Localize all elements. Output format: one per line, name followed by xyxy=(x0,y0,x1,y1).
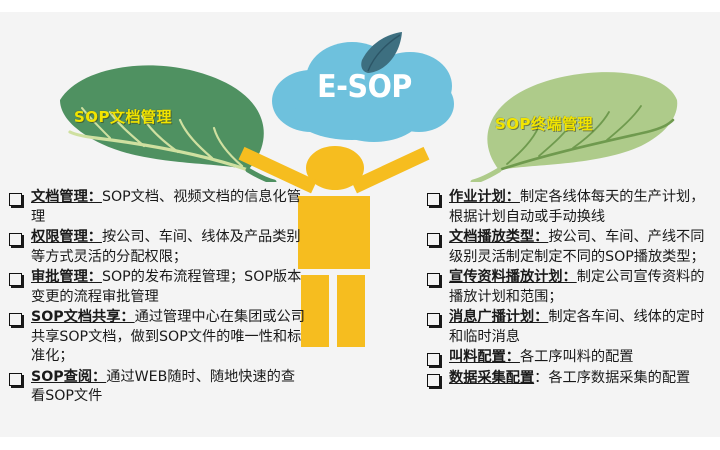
leaf-right: SOP终端管理 xyxy=(455,70,685,182)
list-item-text: 审批管理：SOP的发布流程管理；SOP版本变更的流程审批管理 xyxy=(31,268,306,307)
slide-canvas: SOP文档管理 E-SOP xyxy=(0,12,720,437)
list-item-term: SOP文档共享： xyxy=(31,309,135,325)
list-item-text: 权限管理：按公司、车间、线体及产品类别等方式灵活的分配权限； xyxy=(31,228,306,267)
figure-leg-right xyxy=(337,275,365,347)
list-item-text: 宣传资料播放计划：制定公司宣传资料的播放计划和范围； xyxy=(449,268,716,307)
list-item[interactable]: 消息广播计划：制定各车间、线体的定时和临时消息 xyxy=(424,308,716,347)
list-item-term: 宣传资料播放计划： xyxy=(449,269,577,285)
list-item-description: 各工序叫料的配置 xyxy=(520,349,634,365)
bullet-square-icon xyxy=(427,233,440,246)
list-item-text: 文档管理：SOP文档、视频文档的信息化管理 xyxy=(31,188,306,227)
list-item[interactable]: 作业计划：制定各线体每天的生产计划，根据计划自动或手动换线 xyxy=(424,188,716,227)
leaf-right-label: SOP终端管理 xyxy=(495,113,593,134)
leaf-left-label: SOP文档管理 xyxy=(74,106,172,127)
bullet-square-icon xyxy=(9,273,22,286)
bullet-square-icon xyxy=(9,193,22,206)
list-item-text: 叫料配置：各工序叫料的配置 xyxy=(449,348,716,368)
list-item[interactable]: SOP查阅：通过WEB随时、随地快速的查看SOP文件 xyxy=(6,368,306,407)
list-item-term: 权限管理： xyxy=(31,229,102,245)
list-item-term: 文档播放类型： xyxy=(449,229,548,245)
list-item[interactable]: 文档播放类型：按公司、车间、产线不同级别灵活制定制定不同的SOP播放类型； xyxy=(424,228,716,267)
cloud-leaf-icon xyxy=(356,30,406,74)
list-item[interactable]: 宣传资料播放计划：制定公司宣传资料的播放计划和范围； xyxy=(424,268,716,307)
list-item-term: 文档管理： xyxy=(31,189,102,205)
bullet-square-icon xyxy=(9,313,22,326)
list-item[interactable]: SOP文档共享：通过管理中心在集团或公司共享SOP文档，做到SOP文件的唯一性和… xyxy=(6,308,306,367)
list-item[interactable]: 文档管理：SOP文档、视频文档的信息化管理 xyxy=(6,188,306,227)
sop-terminal-management-list: 作业计划：制定各线体每天的生产计划，根据计划自动或手动换线文档播放类型：按公司、… xyxy=(424,188,716,389)
list-item-term: 审批管理： xyxy=(31,269,102,285)
list-item[interactable]: 审批管理：SOP的发布流程管理；SOP版本变更的流程审批管理 xyxy=(6,268,306,307)
bullet-square-icon xyxy=(427,374,440,387)
list-item[interactable]: 叫料配置：各工序叫料的配置 xyxy=(424,348,716,368)
bullet-square-icon xyxy=(427,273,440,286)
slide-root: SOP文档管理 E-SOP xyxy=(0,0,720,450)
figure-torso xyxy=(298,196,370,269)
bullet-square-icon xyxy=(9,233,22,246)
list-item-text: SOP文档共享：通过管理中心在集团或公司共享SOP文档，做到SOP文件的唯一性和… xyxy=(31,308,306,367)
list-item[interactable]: 数据采集配置：各工序数据采集的配置 xyxy=(424,369,716,389)
bullet-square-icon xyxy=(427,353,440,366)
list-item-term: SOP查阅： xyxy=(31,369,106,385)
cloud-label-esop: E-SOP xyxy=(279,72,449,103)
list-item-text: SOP查阅：通过WEB随时、随地快速的查看SOP文件 xyxy=(31,368,306,407)
list-item-term: 作业计划： xyxy=(449,189,520,205)
sop-document-management-list: 文档管理：SOP文档、视频文档的信息化管理权限管理：按公司、车间、线体及产品类别… xyxy=(6,188,306,408)
list-item-term: 叫料配置： xyxy=(449,349,520,365)
list-item-text: 作业计划：制定各线体每天的生产计划，根据计划自动或手动换线 xyxy=(449,188,716,227)
list-item-description: ：各工序数据采集的配置 xyxy=(534,370,690,386)
list-item-text: 文档播放类型：按公司、车间、产线不同级别灵活制定制定不同的SOP播放类型； xyxy=(449,228,716,267)
list-item[interactable]: 权限管理：按公司、车间、线体及产品类别等方式灵活的分配权限； xyxy=(6,228,306,267)
bullet-square-icon xyxy=(427,313,440,326)
bullet-square-icon xyxy=(427,193,440,206)
bullet-square-icon xyxy=(9,373,22,386)
list-item-term: 数据采集配置 xyxy=(449,370,534,386)
list-item-term: 消息广播计划： xyxy=(449,309,548,325)
list-item-text: 数据采集配置：各工序数据采集的配置 xyxy=(449,369,716,389)
list-item-text: 消息广播计划：制定各车间、线体的定时和临时消息 xyxy=(449,308,716,347)
